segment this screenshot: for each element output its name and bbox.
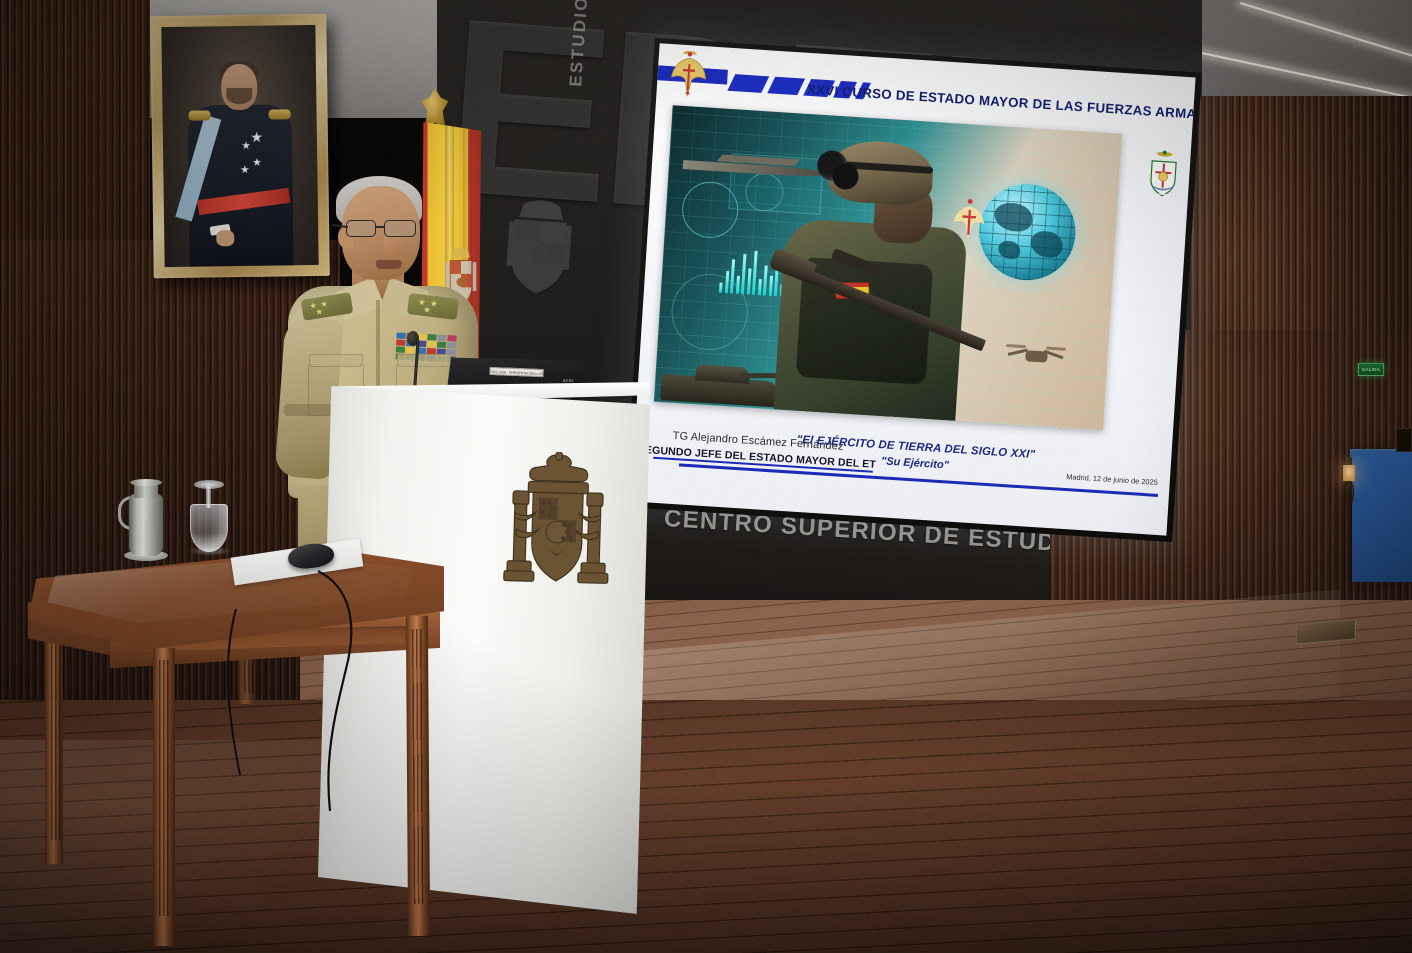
ceseden-emblem-icon (1142, 148, 1185, 204)
army-crest-hologram-icon (948, 195, 989, 247)
slide-hero-image (654, 105, 1122, 430)
table-leg (406, 616, 430, 936)
spanish-coat-of-arms-crest (492, 450, 623, 619)
drone-silhouette (1005, 340, 1067, 370)
exit-sign: SALIDA (1358, 363, 1384, 376)
small-wall-frame (1396, 428, 1412, 452)
table-leg (153, 648, 175, 946)
spanish-army-eagle-icon (667, 49, 710, 103)
portrait-epaulette (189, 110, 211, 120)
wall-sconce-light (1343, 465, 1355, 481)
table-leg (45, 628, 63, 864)
glass-bowl (190, 504, 228, 552)
screen-bezel: XXVI CURSO DE ESTADO MAYOR DE LAS FUERZA… (625, 38, 1202, 542)
projection-screen[interactable]: XXVI CURSO DE ESTADO MAYOR DE LAS FUERZA… (625, 38, 1202, 542)
carafe-body (129, 494, 163, 556)
glass-foot (194, 480, 224, 489)
front-floor (0, 700, 1412, 953)
blue-draped-table (1352, 452, 1412, 582)
globe-hologram (976, 181, 1078, 283)
slide-header-title: XXVI CURSO DE ESTADO MAYOR DE LAS FUERZA… (807, 82, 1188, 121)
chevron-accent (727, 74, 769, 93)
thermal-carafe[interactable] (124, 478, 168, 560)
portrait-hand (217, 230, 235, 246)
presentation-slide[interactable]: XXVI CURSO DE ESTADO MAYOR DE LAS FUERZA… (630, 43, 1195, 535)
wall-coat-of-arms (496, 192, 581, 301)
portrait-epaulette (268, 109, 290, 119)
wine-glass[interactable] (188, 480, 230, 560)
lecture-hall-photo: EDEN ESTUDIOS DE LA DEFENSA NACIONAL CEN… (0, 0, 1412, 953)
glass-stem (206, 486, 211, 508)
carafe-lip (130, 479, 162, 486)
wall-sconce-body (1344, 481, 1354, 505)
speaker-mouth (376, 260, 402, 269)
speaker-eyeglasses (346, 220, 422, 238)
chevron-accent (767, 77, 805, 95)
